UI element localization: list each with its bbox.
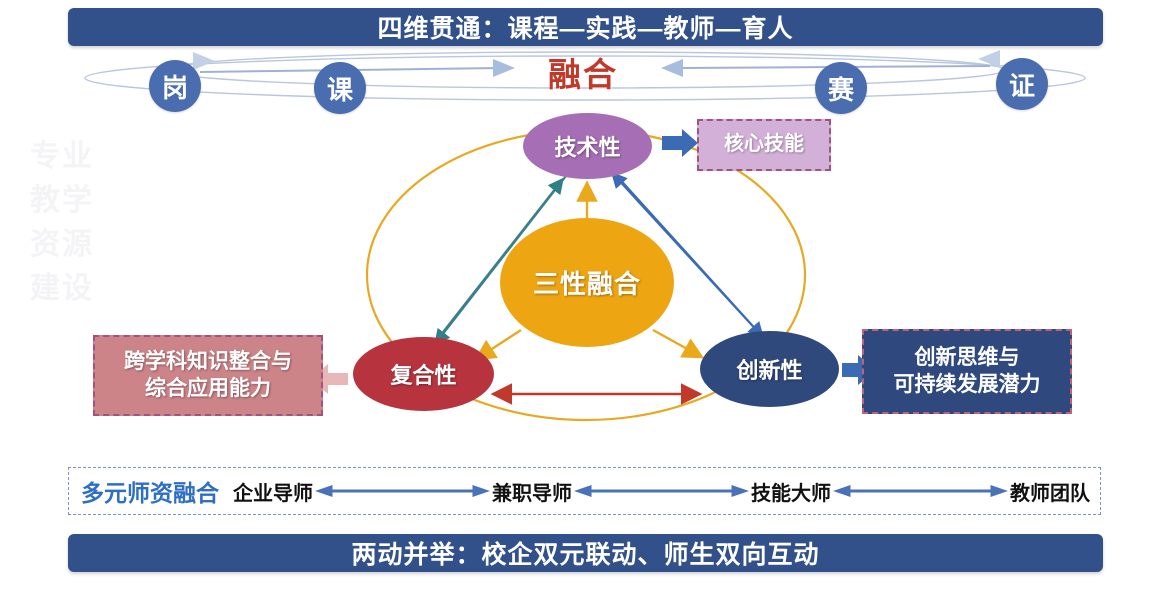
diagram-canvas: 专业 教学 资源 建设 四维贯通：课程—实践—教师—育人 岗 课 赛 证 融合 xyxy=(0,0,1171,606)
core-circle[interactable]: 三性融合 xyxy=(500,218,674,347)
outcome-innov-line-2: 可持续发展潜力 xyxy=(894,372,1041,399)
faculty-item-enterprise-mentor[interactable]: 企业导师 xyxy=(233,477,313,506)
orbit-arrowhead-right-center xyxy=(661,59,683,77)
orbit-node-zheng[interactable]: 证 xyxy=(996,58,1048,110)
orbit-center-label: 融合 xyxy=(548,48,618,96)
faculty-strip-title: 多元师资融合 xyxy=(81,474,219,508)
arrow-tech-to-skill-box xyxy=(662,129,698,157)
orbit-node-gang[interactable]: 岗 xyxy=(149,60,201,112)
faculty-item-parttime-mentor[interactable]: 兼职导师 xyxy=(492,477,572,506)
node-innovation[interactable]: 创新性 xyxy=(700,331,839,407)
arrow-core-to-innovation xyxy=(653,330,700,356)
faculty-strip: 多元师资融合 企业导师 兼职导师 技能大师 教师团队 xyxy=(68,467,1101,515)
node-innovation-label: 创新性 xyxy=(736,353,802,385)
outcome-cross-discipline[interactable]: 跨学科知识整合与 综合应用能力 xyxy=(93,335,323,416)
node-technical-label: 技术性 xyxy=(554,130,620,162)
outcome-innov-line-1: 创新思维与 xyxy=(894,345,1041,372)
node-composite-label: 复合性 xyxy=(390,358,456,390)
watermark-line-3: 资源 xyxy=(30,223,150,267)
core-circle-label: 三性融合 xyxy=(533,264,641,301)
node-technical[interactable]: 技术性 xyxy=(523,113,652,179)
outcome-core-skill-label: 核心技能 xyxy=(724,132,804,158)
watermark-line-4: 建设 xyxy=(30,267,150,311)
node-composite[interactable]: 复合性 xyxy=(353,337,494,411)
faculty-arrow-3 xyxy=(833,482,1008,500)
outcome-core-skill[interactable]: 核心技能 xyxy=(697,119,831,171)
bottom-banner-text: 两动并举：校企双元联动、师生双向互动 xyxy=(351,535,819,571)
orbit-arrowhead-left-center xyxy=(493,59,515,77)
orbit-node-zheng-label: 证 xyxy=(1009,66,1035,103)
orbit-node-ke-label: 课 xyxy=(327,70,353,107)
faculty-arrow-1 xyxy=(315,482,490,500)
orbit-arrowhead-far-left xyxy=(193,52,215,70)
background-watermark: 专业 教学 资源 建设 xyxy=(30,135,150,315)
orbit-node-gang-label: 岗 xyxy=(162,68,188,105)
orbit-node-sai[interactable]: 赛 xyxy=(815,62,867,114)
watermark-line-1: 专业 xyxy=(30,135,150,179)
watermark-line-2: 教学 xyxy=(30,179,150,223)
outcome-cross-line-1: 跨学科知识整合与 xyxy=(124,349,292,376)
orbit-node-sai-label: 赛 xyxy=(828,70,854,107)
orbit-node-ke[interactable]: 课 xyxy=(314,62,366,114)
outcome-cross-line-2: 综合应用能力 xyxy=(124,376,292,403)
faculty-item-skill-master[interactable]: 技能大师 xyxy=(751,477,831,506)
bottom-banner: 两动并举：校企双元联动、师生双向互动 xyxy=(68,534,1103,572)
arrow-core-to-composite xyxy=(478,330,521,358)
outcome-innovation-potential[interactable]: 创新思维与 可持续发展潜力 xyxy=(862,329,1072,414)
faculty-item-teacher-team[interactable]: 教师团队 xyxy=(1010,477,1090,506)
faculty-arrow-2 xyxy=(574,482,749,500)
